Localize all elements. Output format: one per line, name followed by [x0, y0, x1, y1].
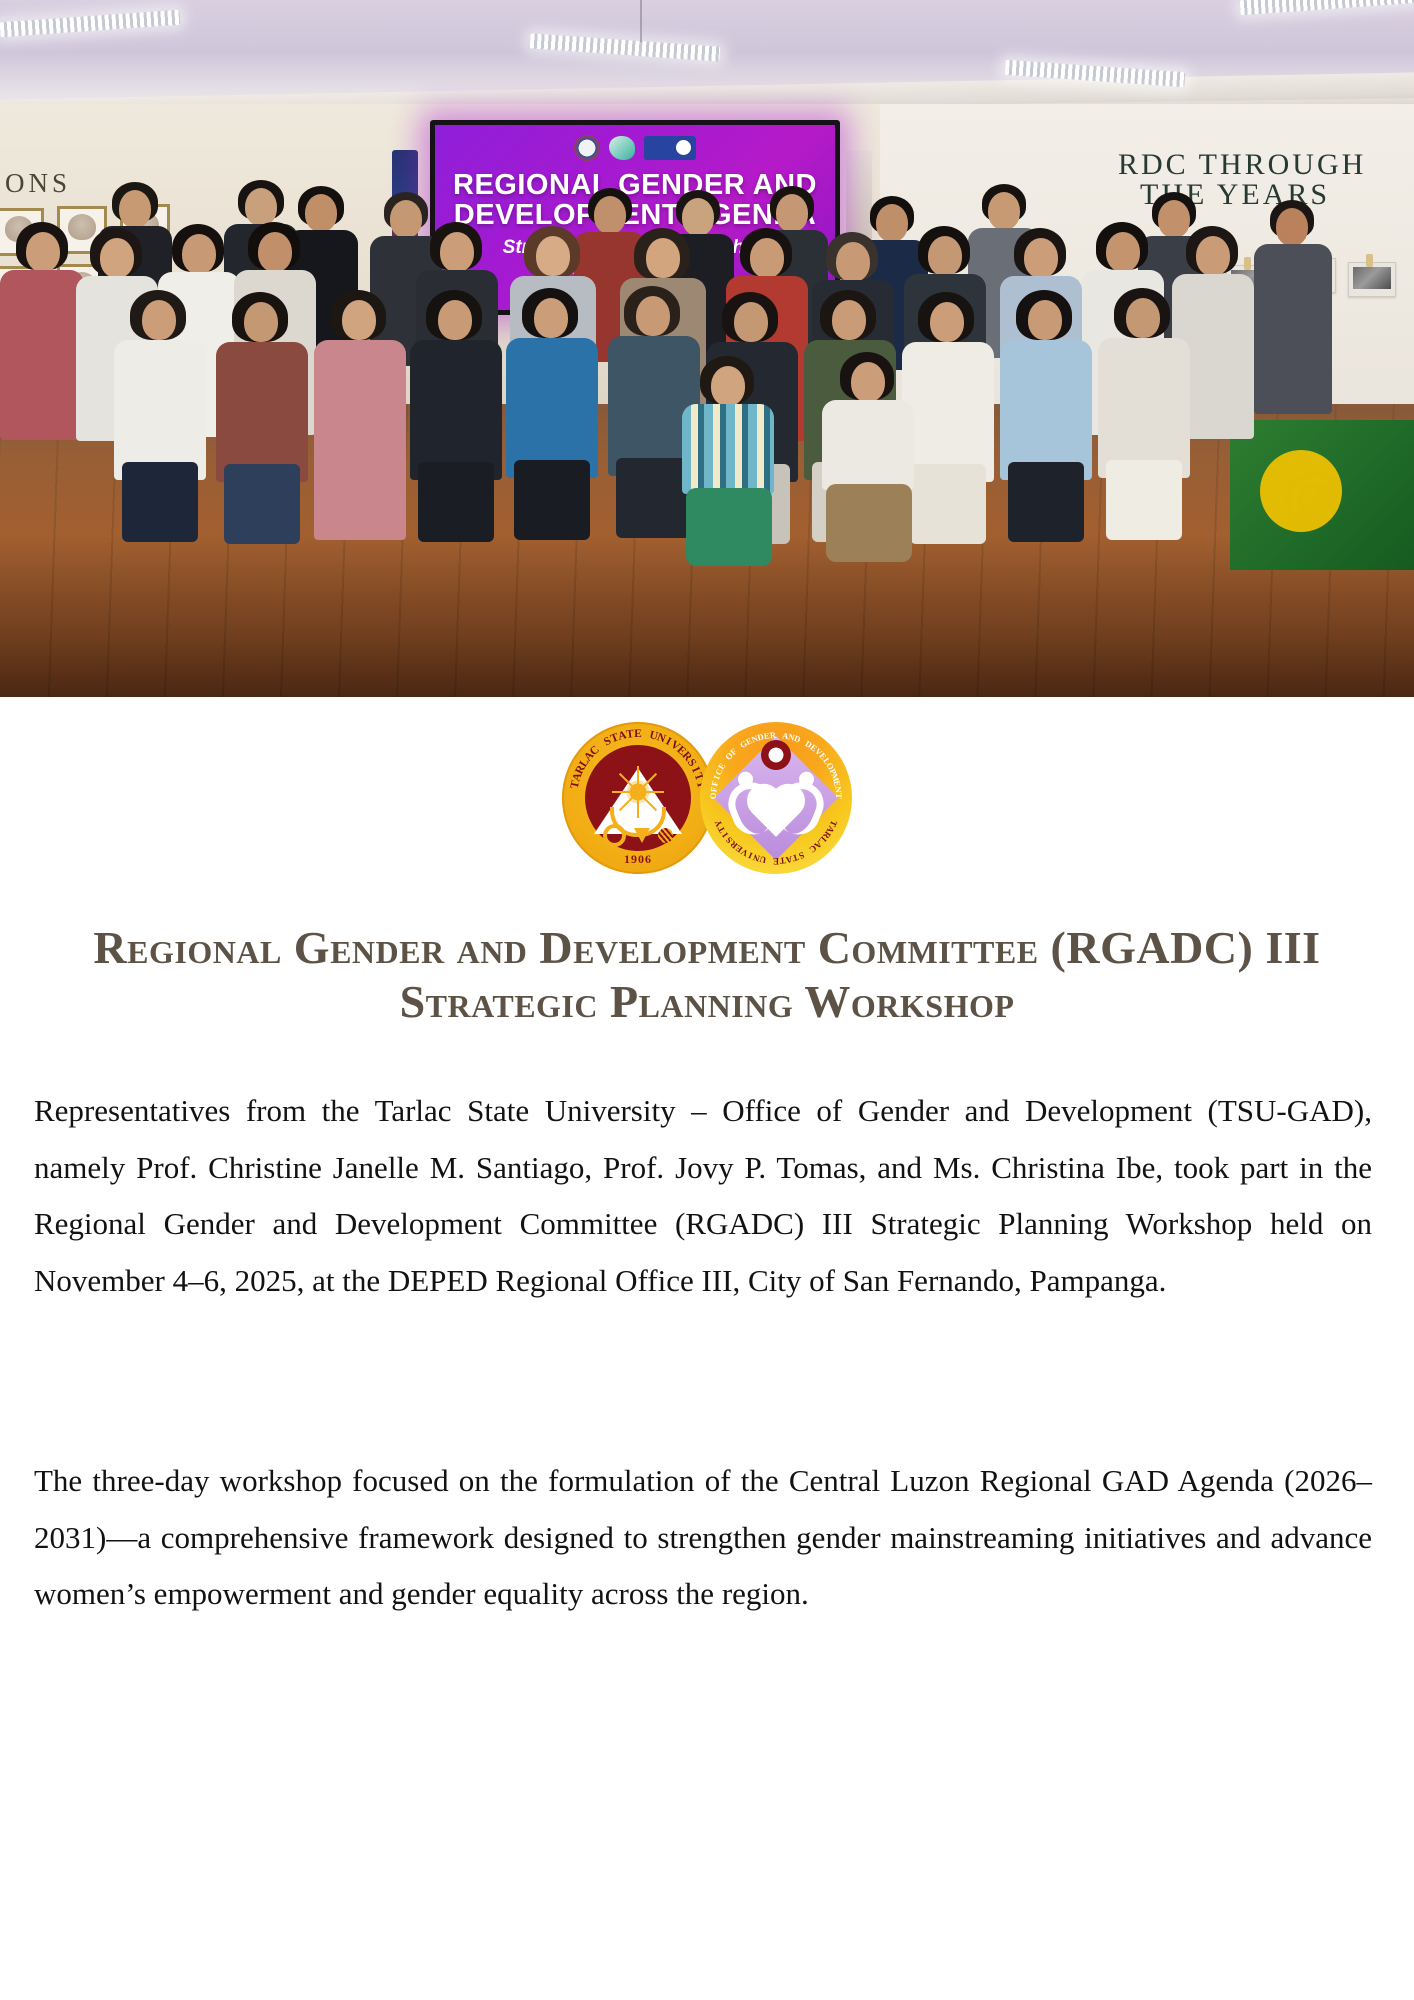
wall-text-left: RSONS: [0, 168, 71, 199]
article-paragraph-2: The three-day workshop focused on the fo…: [34, 1453, 1372, 1623]
clothes-pin: [1244, 257, 1251, 270]
pinned-photo: [1348, 262, 1396, 297]
page-title: Regional Gender and Development Committe…: [40, 921, 1374, 1030]
tarlac-state-university-seal: TARLAC STATE UNIVERSITY 1906: [562, 722, 714, 874]
pcw-logo-icon: [644, 136, 696, 160]
article-paragraph-1: Representatives from the Tarlac State Un…: [34, 1083, 1372, 1310]
green-banner: @: [1230, 420, 1414, 570]
clothes-pin: [1366, 254, 1373, 267]
lamp-cord: [640, 0, 642, 42]
gad-ring-text-bottom: TARLAC STATE UNIVERSITY: [700, 722, 852, 874]
seal-ring-char: E: [773, 856, 779, 866]
tsu-founding-year: 1906: [562, 852, 714, 867]
philippine-seal-icon: [574, 135, 600, 161]
neda-logo-icon: [609, 136, 635, 160]
seal-ring-char: E: [634, 728, 642, 740]
wall-text-right-line1: RDC THROUGH: [1118, 148, 1366, 182]
group-photo: RSONS RDC THROUGH THE YEARS REGIONAL GEN…: [0, 0, 1414, 697]
screen-logo-row: [574, 135, 696, 161]
logo-row: TARLAC STATE UNIVERSITY 1906 OFFICE OF G…: [0, 718, 1414, 878]
banner-glyph: @: [1282, 460, 1342, 531]
office-of-gender-and-development-seal: OFFICE OF GENDER AND DEVELOPMENT TARLAC …: [700, 722, 852, 874]
seal-ring-char: T: [779, 855, 786, 866]
